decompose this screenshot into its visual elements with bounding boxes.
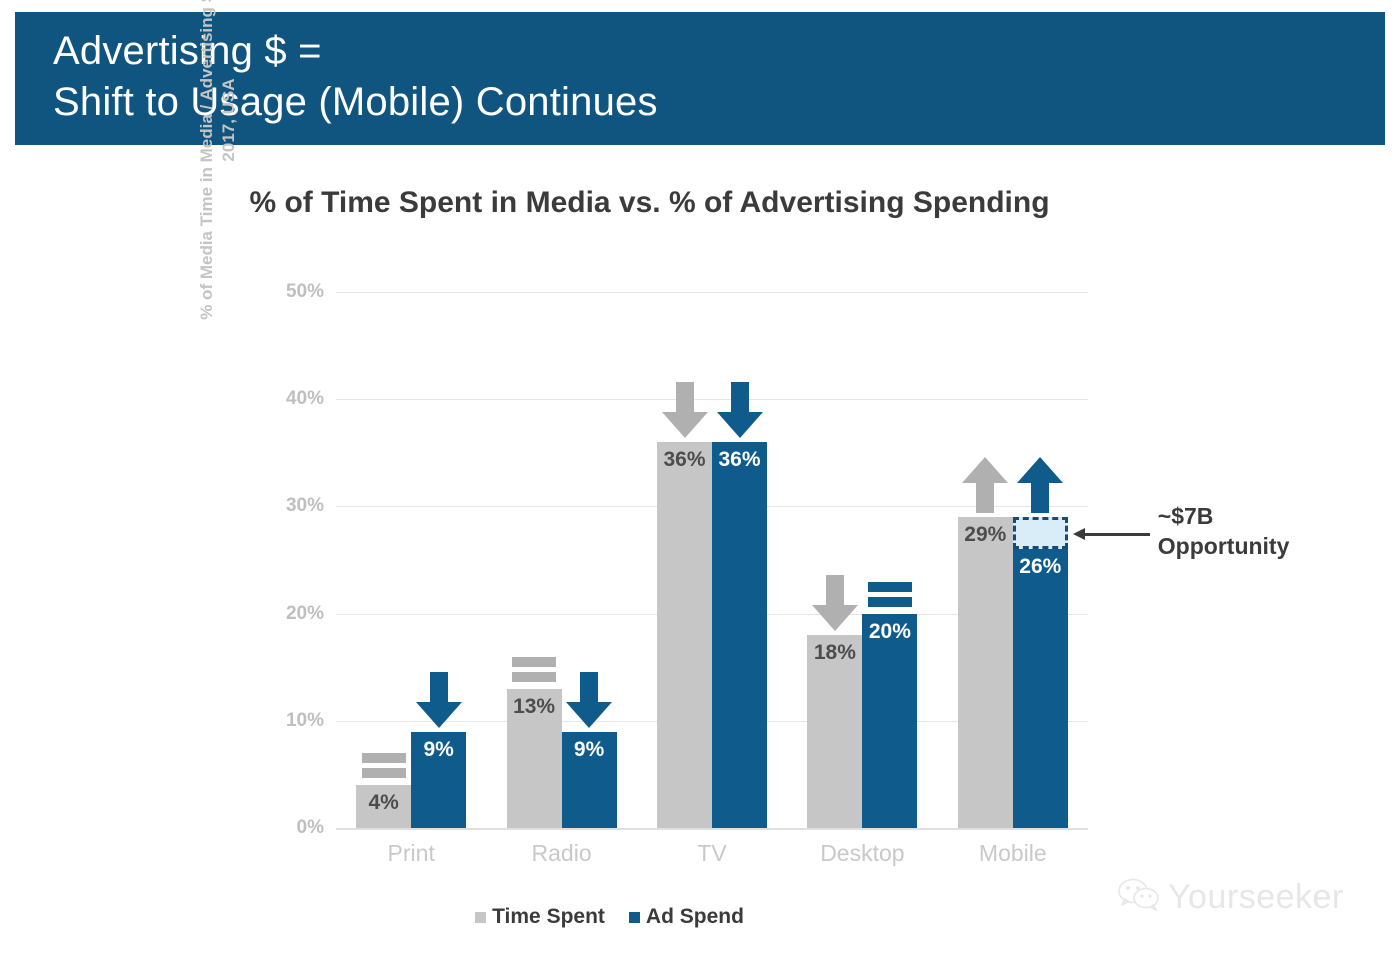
bar-mobile-ad-spend: 26% xyxy=(1013,549,1068,828)
legend-label: Time Spent xyxy=(492,905,605,929)
down-arrow-marker-print xyxy=(416,672,462,728)
x-axis-label-radio: Radio xyxy=(486,840,636,867)
bar-radio-ad-spend: 9% xyxy=(562,732,617,828)
legend-swatch xyxy=(629,912,640,923)
down-arrow-marker-tv xyxy=(717,382,763,438)
down-arrow-marker-radio xyxy=(566,672,612,728)
bar-desktop-time-spent: 18% xyxy=(807,635,862,828)
legend-item-ad-spend[interactable]: Ad Spend xyxy=(629,905,744,929)
legend-label: Ad Spend xyxy=(646,905,744,929)
watermark-text: Yourseeker xyxy=(1168,878,1344,917)
bar-tv-ad-spend: 36% xyxy=(712,442,767,828)
equals-marker-radio xyxy=(512,653,556,685)
bar-value-label: 29% xyxy=(958,523,1013,547)
bar-value-label: 36% xyxy=(712,448,767,472)
x-axis-label-desktop: Desktop xyxy=(787,840,937,867)
x-axis-label-print: Print xyxy=(336,840,486,867)
opportunity-arrow-icon xyxy=(1084,533,1150,536)
legend-swatch xyxy=(475,912,486,923)
bar-tv-time-spent: 36% xyxy=(657,442,712,828)
bar-value-label: 18% xyxy=(807,641,862,665)
bar-value-label: 20% xyxy=(862,620,917,644)
equals-marker-print xyxy=(362,749,406,781)
gridline xyxy=(336,399,1088,400)
y-axis-title: % of Media Time in Media / Advertising S… xyxy=(196,0,240,330)
y-axis-tick-label: 50% xyxy=(254,281,324,303)
down-arrow-marker-tv xyxy=(662,382,708,438)
bar-value-label: 9% xyxy=(562,738,617,762)
bar-print-ad-spend: 9% xyxy=(411,732,466,828)
x-axis-label-tv: TV xyxy=(637,840,787,867)
opportunity-label: ~$7B Opportunity xyxy=(1158,501,1290,561)
bar-mobile-time-spent: 29% xyxy=(958,517,1013,828)
gridline xyxy=(336,292,1088,293)
bar-print-time-spent: 4% xyxy=(356,785,411,828)
bar-radio-time-spent: 13% xyxy=(507,689,562,828)
x-axis-line xyxy=(336,828,1088,830)
y-axis-tick-label: 40% xyxy=(254,388,324,410)
up-arrow-marker-mobile xyxy=(1017,457,1063,513)
wechat-icon xyxy=(1118,878,1160,917)
legend-item-time-spent[interactable]: Time Spent xyxy=(475,905,605,929)
watermark: Yourseeker xyxy=(1118,878,1344,917)
opportunity-box xyxy=(1013,517,1068,549)
down-arrow-marker-desktop xyxy=(812,575,858,631)
bar-value-label: 36% xyxy=(657,448,712,472)
page-title: Advertising $ = Shift to Usage (Mobile) … xyxy=(53,26,658,128)
bar-desktop-ad-spend: 20% xyxy=(862,614,917,828)
bar-value-label: 4% xyxy=(356,791,411,815)
plot-area: 4%9%13%9%36%36%18%20%29%26%~$7B Opportun… xyxy=(336,292,1088,828)
bar-value-label: 13% xyxy=(507,695,562,719)
y-axis-tick-label: 0% xyxy=(254,817,324,839)
bar-value-label: 26% xyxy=(1013,555,1068,579)
bar-value-label: 9% xyxy=(411,738,466,762)
y-axis-tick-label: 10% xyxy=(254,710,324,732)
y-axis-tick-label: 20% xyxy=(254,603,324,625)
y-axis-tick-label: 30% xyxy=(254,495,324,517)
equals-marker-desktop xyxy=(868,578,912,610)
up-arrow-marker-mobile xyxy=(962,457,1008,513)
x-axis-label-mobile: Mobile xyxy=(938,840,1088,867)
